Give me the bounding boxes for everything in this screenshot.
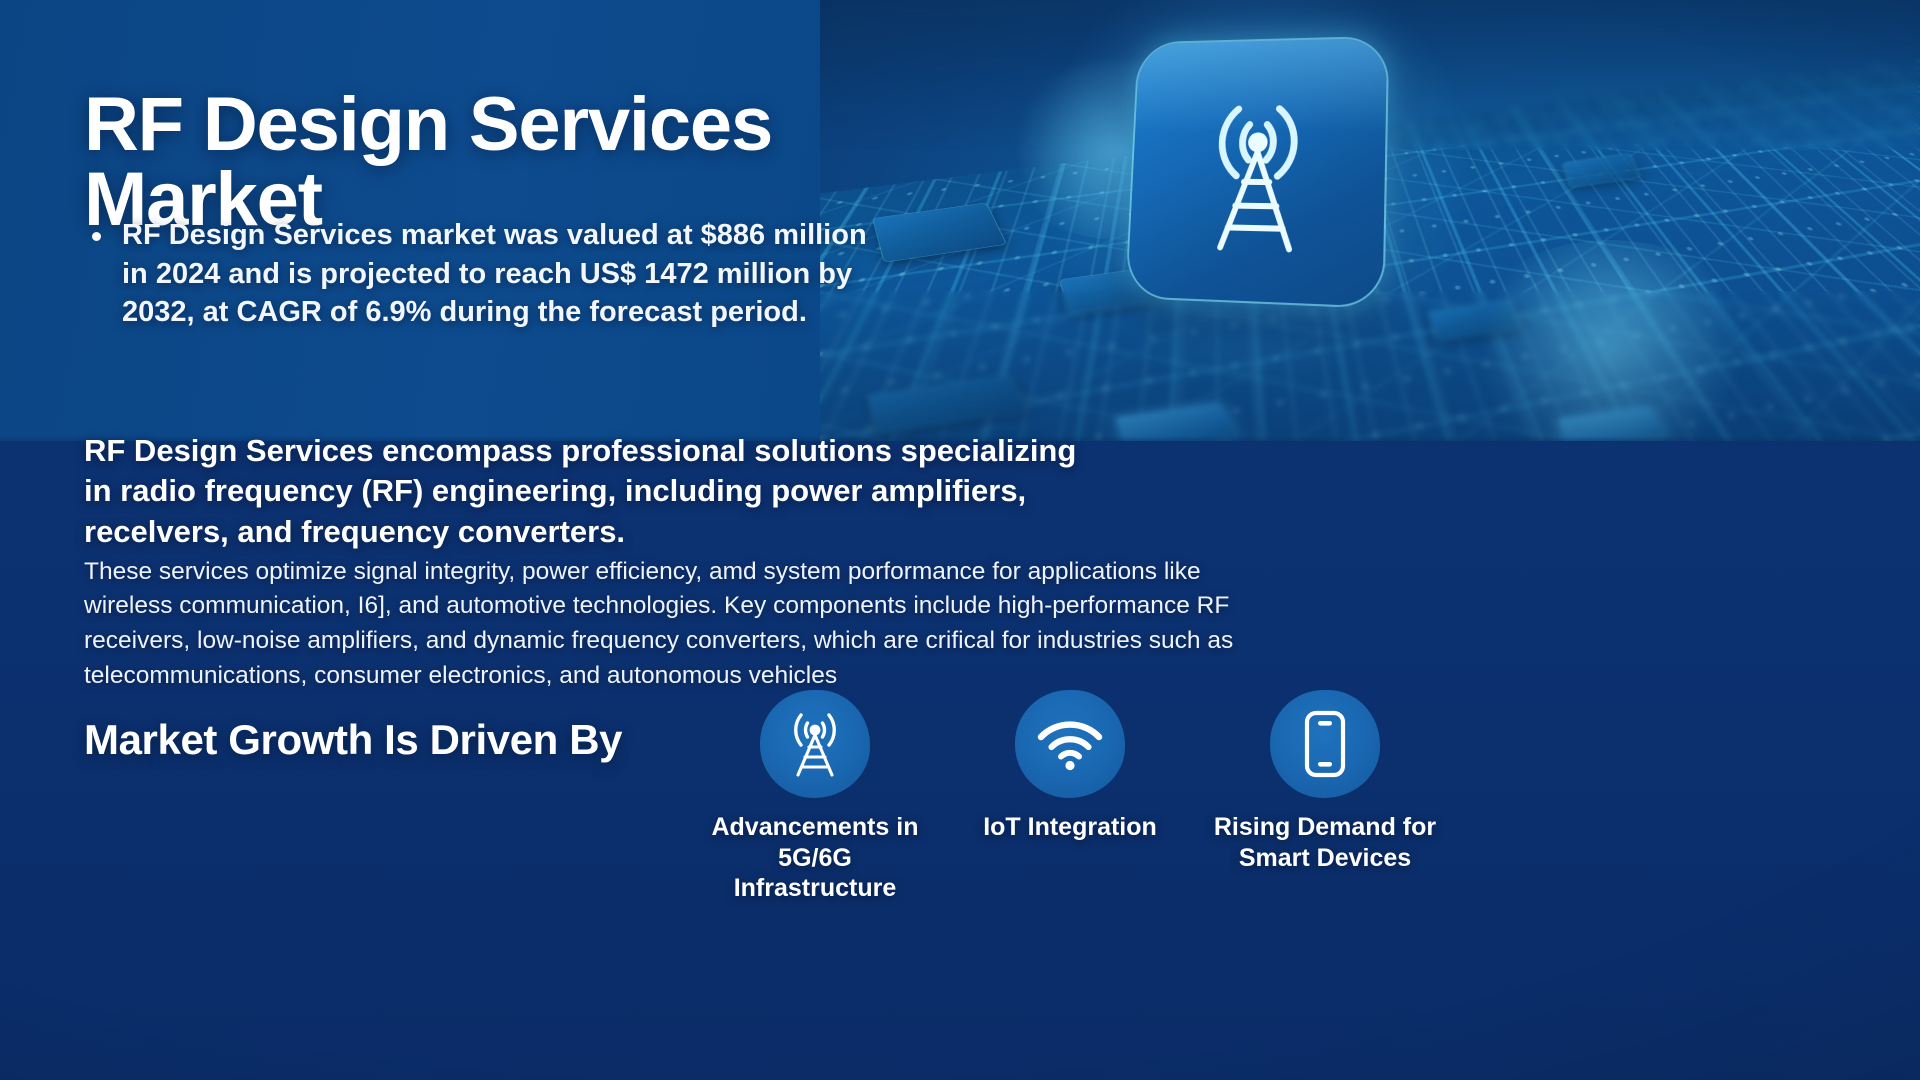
driver-badge-iot: IoT Integration	[955, 690, 1185, 843]
badge-circle	[1015, 690, 1125, 798]
lead-paragraph: RF Design Services encompass professiona…	[84, 431, 1094, 552]
key-stat-bullet-list: RF Design Services market was valued at …	[84, 216, 884, 332]
badge-circle	[1270, 690, 1380, 798]
infographic-canvas: RF Design Services Market RF Design Serv…	[0, 0, 1920, 1080]
body-paragraph: These services optimize signal integrity…	[84, 555, 1264, 694]
badge-label: Rising Demand for Smart Devices	[1210, 812, 1440, 873]
rf-antenna-tower-icon	[1178, 82, 1338, 260]
rf-antenna-tile	[1090, 20, 1420, 330]
drivers-heading: Market Growth Is Driven By	[84, 716, 622, 764]
badge-label: IoT Integration	[955, 812, 1185, 843]
drivers-badge-group: Advancements in 5G/6G Infrastructure IoT…	[700, 690, 1460, 920]
list-item: RF Design Services market was valued at …	[84, 216, 884, 332]
driver-badge-5g: Advancements in 5G/6G Infrastructure	[700, 690, 930, 904]
badge-circle	[760, 690, 870, 798]
radio-tower-icon	[782, 709, 848, 779]
driver-badge-smart-devices: Rising Demand for Smart Devices	[1210, 690, 1440, 873]
badge-label: Advancements in 5G/6G Infrastructure	[700, 812, 930, 904]
wifi-icon	[1034, 716, 1106, 772]
page-title: RF Design Services Market	[84, 87, 984, 237]
smartphone-icon	[1301, 709, 1349, 779]
